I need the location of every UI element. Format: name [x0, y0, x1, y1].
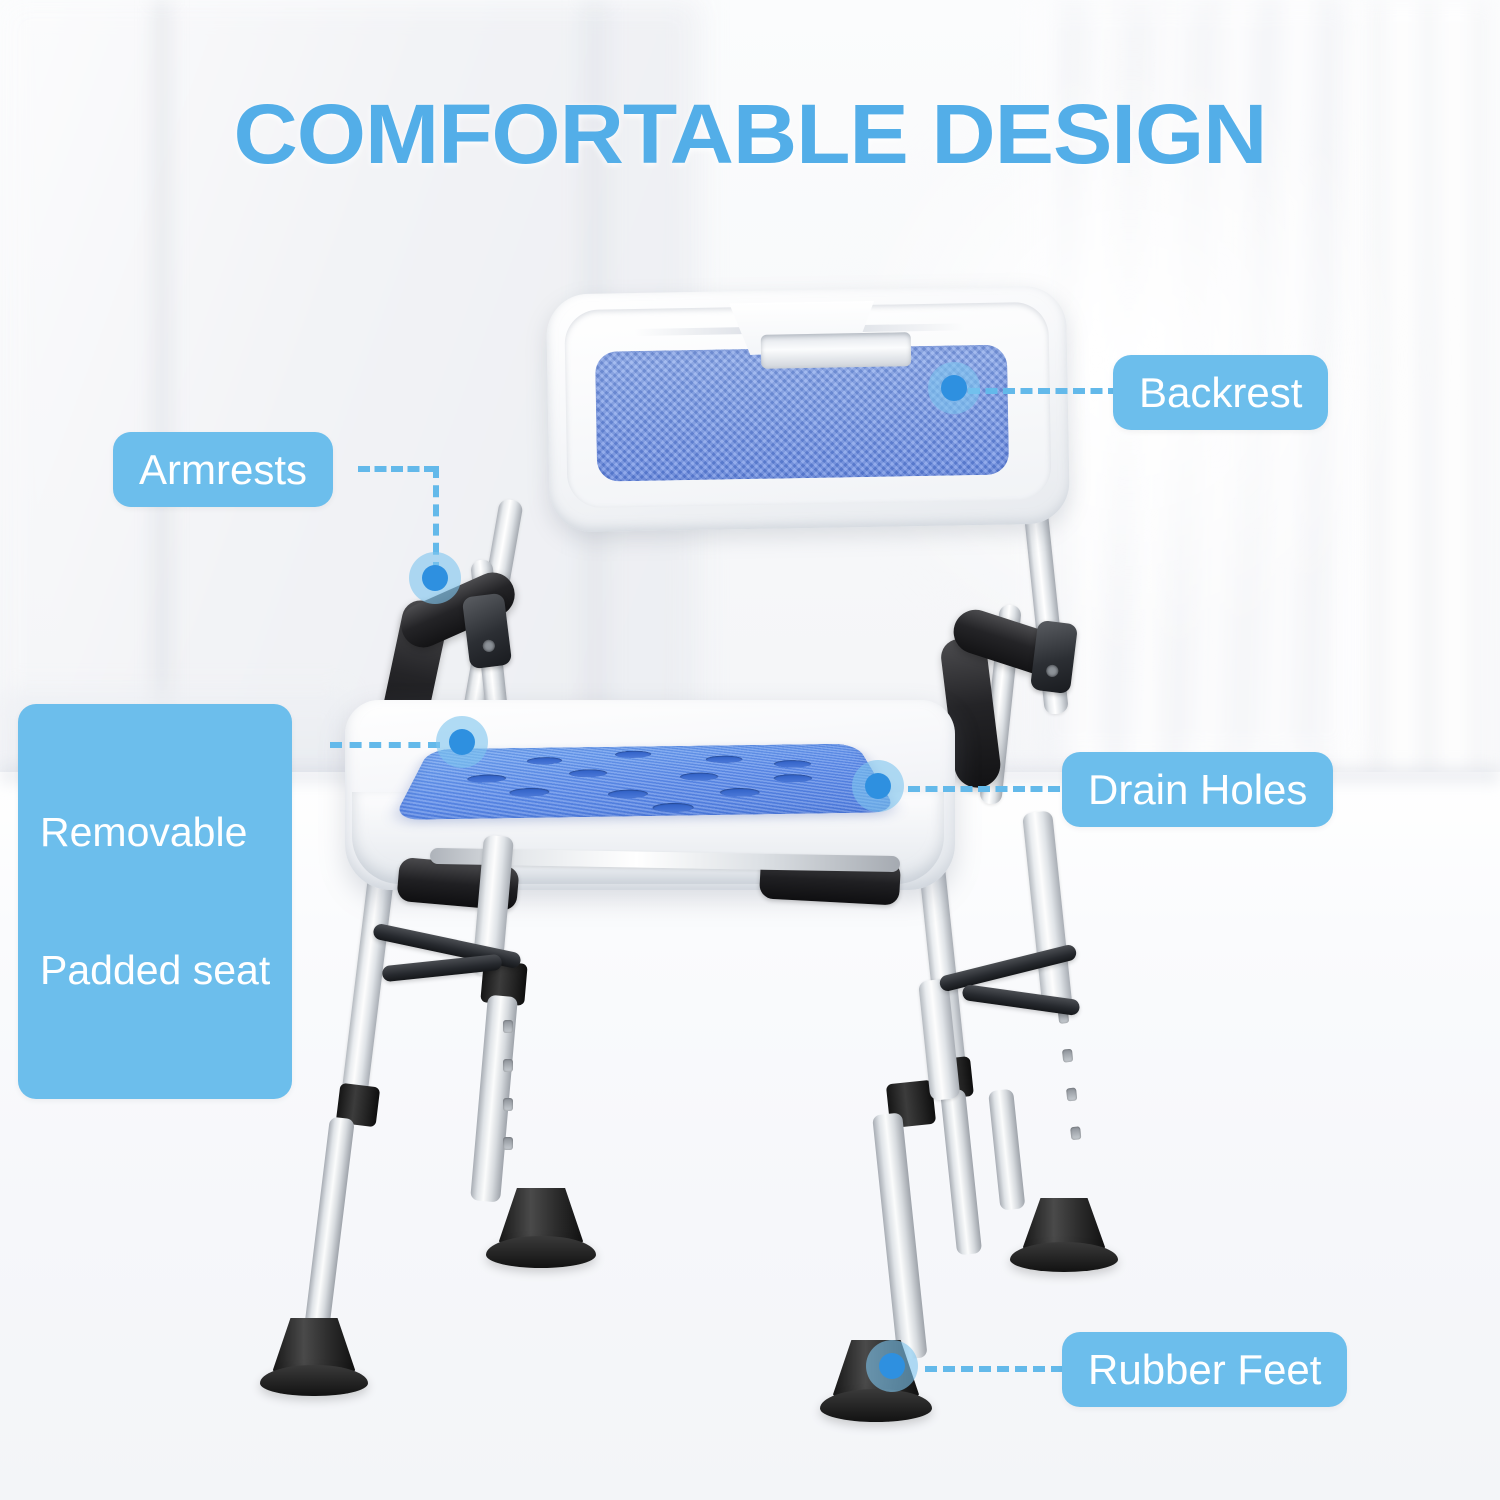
marker-dot-backrest[interactable] [928, 362, 980, 414]
rubber-foot-base [1010, 1242, 1118, 1272]
marker-dot-drain-holes[interactable] [852, 760, 904, 812]
callout-label-rubber-feet[interactable]: Rubber Feet [1062, 1332, 1347, 1407]
drain-hole [652, 803, 694, 813]
rubber-foot-front-left [498, 1188, 584, 1268]
callout-label-padded-seat-line2: Padded seat [40, 948, 270, 994]
armrest-bracket-right [1030, 620, 1078, 694]
rubber-foot-rear-right [1022, 1198, 1106, 1272]
drain-hole [466, 774, 507, 782]
leader-line-armrests-horizontal [358, 466, 436, 472]
rear-right-leg-lower [940, 1089, 982, 1256]
callout-label-drain-holes[interactable]: Drain Holes [1062, 752, 1333, 827]
drain-hole [508, 788, 550, 797]
height-adjust-hole [503, 1020, 513, 1033]
callout-label-backrest[interactable]: Backrest [1113, 355, 1328, 430]
front-right-leg-upper [1022, 810, 1073, 1012]
marker-dot-padded-seat[interactable] [436, 716, 488, 768]
armrest-bracket-screw [482, 639, 495, 652]
drain-hole [773, 760, 813, 768]
drain-hole [772, 774, 813, 782]
leader-line-rubber-feet [925, 1366, 1063, 1372]
leader-line-backrest [968, 388, 1120, 394]
callout-label-padded-seat[interactable]: Removable Padded seat [18, 704, 292, 1099]
infographic-canvas: COMFORTABLE DESIGN [0, 0, 1500, 1500]
armrest-bracket-left [462, 593, 512, 670]
drain-hole [608, 789, 648, 798]
backrest-panel [546, 285, 1070, 532]
height-adjust-hole [1070, 1126, 1081, 1140]
rear-left-leg-lower [305, 1116, 355, 1327]
drain-hole [526, 757, 563, 765]
armrest-bracket-screw [1046, 665, 1059, 678]
drain-hole [680, 772, 720, 780]
drain-hole [719, 788, 761, 797]
leader-line-padded-seat [330, 742, 440, 748]
front-right-leg-lower [872, 1112, 928, 1360]
rubber-foot-base [820, 1389, 933, 1422]
front-right-leg-adjust-holes [1058, 1010, 1084, 1166]
drain-hole [615, 751, 652, 758]
backrest-carry-handle [761, 332, 912, 369]
callout-label-padded-seat-line1: Removable [40, 810, 270, 856]
marker-dot-armrests[interactable] [409, 552, 461, 604]
drain-hole [568, 769, 607, 777]
height-adjust-hole [503, 1098, 513, 1111]
rubber-foot-rear-left [272, 1318, 356, 1396]
height-adjust-hole [1062, 1049, 1073, 1063]
rubber-foot-base [260, 1365, 368, 1396]
height-adjust-hole [503, 1137, 513, 1150]
drain-hole [705, 756, 743, 764]
marker-dot-rubber-feet[interactable] [866, 1340, 918, 1392]
front-left-leg-adjust-holes [503, 1020, 513, 1176]
callout-label-armrests[interactable]: Armrests [113, 432, 333, 507]
backrest-inner-frame [564, 302, 1051, 508]
rubber-foot-base [486, 1236, 596, 1268]
rear-right-leg-lower-extension [988, 1089, 1025, 1211]
height-adjust-hole [503, 1059, 513, 1072]
height-adjust-hole [1066, 1087, 1077, 1101]
leader-line-drain-holes [908, 786, 1060, 792]
